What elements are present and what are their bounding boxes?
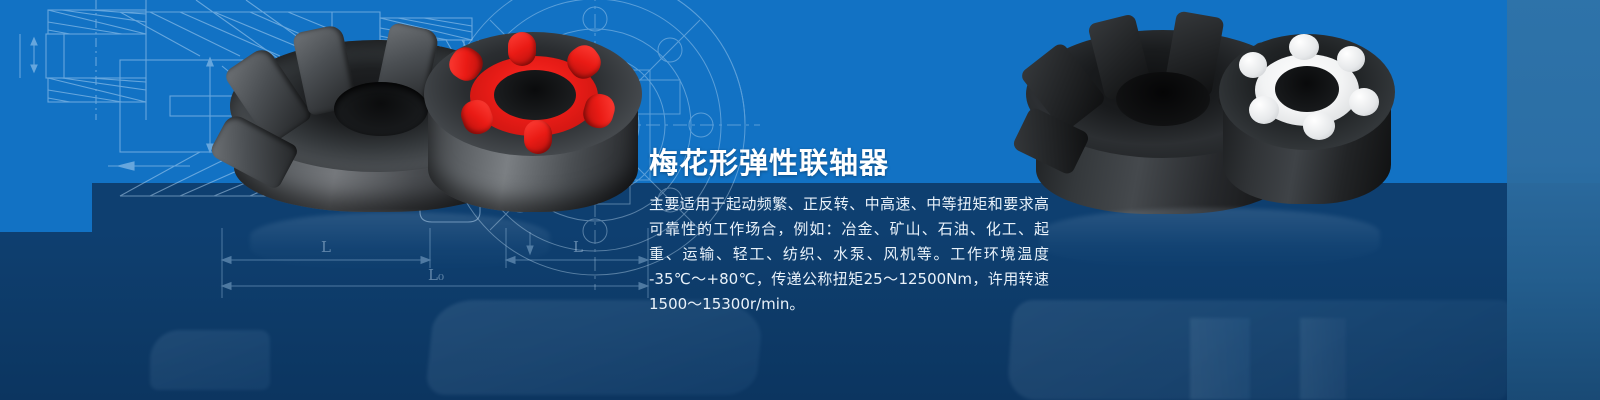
spider-bore	[1275, 66, 1339, 112]
page-title: 梅花形弹性联轴器	[649, 140, 889, 182]
coupling-bore	[1116, 72, 1210, 126]
ghost-shaft-2	[1300, 318, 1346, 400]
coupling-bore	[334, 82, 428, 136]
product-banner: L L L₀	[0, 0, 1600, 400]
reflection-left	[250, 212, 550, 272]
white-spider-element	[1233, 40, 1381, 144]
right-edge-strip	[1507, 0, 1600, 400]
product-red-spider-coupling	[418, 18, 648, 214]
ghost-machinery-right	[1007, 300, 1514, 400]
ghost-shaft-1	[1190, 318, 1250, 400]
reflection-right	[1040, 208, 1380, 270]
dim-label-L2: L	[573, 238, 583, 256]
product-description: 主要适用于起动频繁、正反转、中高速、中等扭矩和要求高可靠性的工作场合，例如：冶金…	[649, 192, 1049, 317]
ghost-machinery-left	[150, 330, 270, 390]
description-paragraph: 主要适用于起动频繁、正反转、中高速、中等扭矩和要求高可靠性的工作场合，例如：冶金…	[649, 192, 1049, 317]
red-spider-element	[442, 40, 626, 152]
spider-bore	[494, 70, 576, 120]
product-white-spider-coupling	[1215, 24, 1400, 204]
